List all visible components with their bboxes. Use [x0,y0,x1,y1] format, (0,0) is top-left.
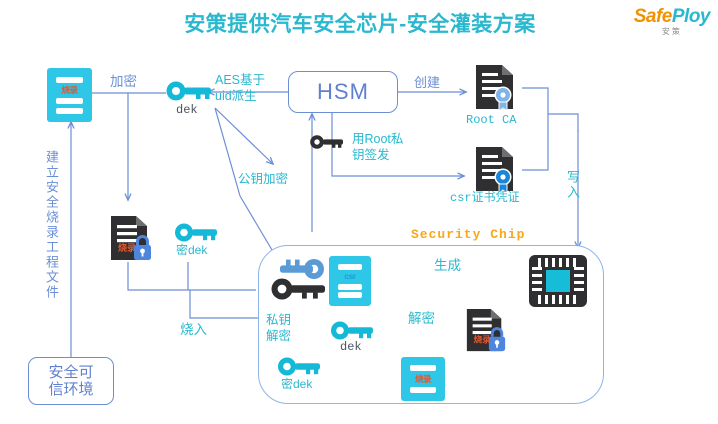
file-line [56,77,83,83]
key-icon [277,356,321,377]
svg-text:烧录: 烧录 [118,242,136,253]
logo-wordmark: SafePloy [634,7,710,26]
burn-file-chip: 烧录 [401,357,445,401]
edge-label-generate: 生成 [434,258,461,274]
csr-file-chip: csr [329,256,371,306]
edge-label-establish: 建立安全烧录工程文件 [45,150,58,300]
key-icon [174,222,218,243]
microchip-icon [524,252,592,310]
hsm-key [310,134,344,155]
dek-key-chip-caption: dek [340,341,362,355]
security-chip-title: Security Chip [411,228,525,243]
csr-cert-icon [472,144,518,194]
brand-logo: SafePloy 安策 [634,7,710,36]
file-line [338,292,363,298]
certificate-icon [472,62,518,112]
locked-doc-chip: 烧录 [464,307,504,353]
csr-cert-caption: csr证书凭证 [450,192,520,206]
edge-label-encrypt: 加密 [110,74,137,90]
trusted-env-label: 安全可信环境 [48,364,93,399]
file-line [338,264,363,270]
certificate-icon [472,144,518,194]
edge-label-decrypt: 解密 [408,311,435,327]
logo-word-part-a: Safe [634,6,672,27]
edge-label-write-in: 写入 [566,170,579,200]
csr-file-chip-tag: csr [344,272,355,281]
burn-file-chip-tag: 烧录 [415,375,431,384]
root-ca-icon [472,62,518,112]
file-line [338,284,363,290]
dek-key-top-caption: dek [176,104,198,118]
key-icon [166,80,212,102]
hsm-label: HSM [317,79,369,105]
edge-label-pubkey-encrypt: 公钥加密 [238,172,288,186]
edge-label-privkey-decrypt: 私钥 解密 [266,312,291,345]
logo-subtitle: 安策 [634,28,710,36]
root-ca-caption: Root CA [466,114,516,128]
edge-label-aes-derive: AES基于 uid派生 [215,73,265,104]
logo-word-part-b: Ploy [672,6,710,27]
hsm-box: HSM [288,71,398,113]
edge-label-sign-root: 用Root私 钥签发 [352,131,403,164]
burn-file-top: 烧录 [47,68,92,122]
file-line [410,387,437,393]
file-line [410,365,437,371]
file-line [56,108,83,114]
edge-label-create: 创建 [414,76,440,91]
locked-document-icon: 烧录 [464,307,508,355]
microchip [524,252,586,310]
secret-dek-left-caption: 密dek [176,244,207,258]
burn-file-top-tag: 烧录 [61,86,77,95]
key-icon-dark [310,134,344,150]
secret-dek-chip-caption: 密dek [281,378,312,392]
page-title: 安策提供汽车安全芯片-安全灌装方案 [110,8,610,38]
svg-text:烧录: 烧录 [474,333,492,344]
trusted-env-box: 安全可信环境 [28,357,114,405]
locked-document-icon: 烧录 [108,214,154,264]
key-icon [330,320,374,341]
edge-label-burn-in: 烧入 [180,322,207,338]
file-line [56,98,83,104]
locked-doc-left: 烧录 [108,214,148,260]
diagram-canvas: 安策提供汽车安全芯片-安全灌装方案 SafePloy 安策 [0,0,718,424]
